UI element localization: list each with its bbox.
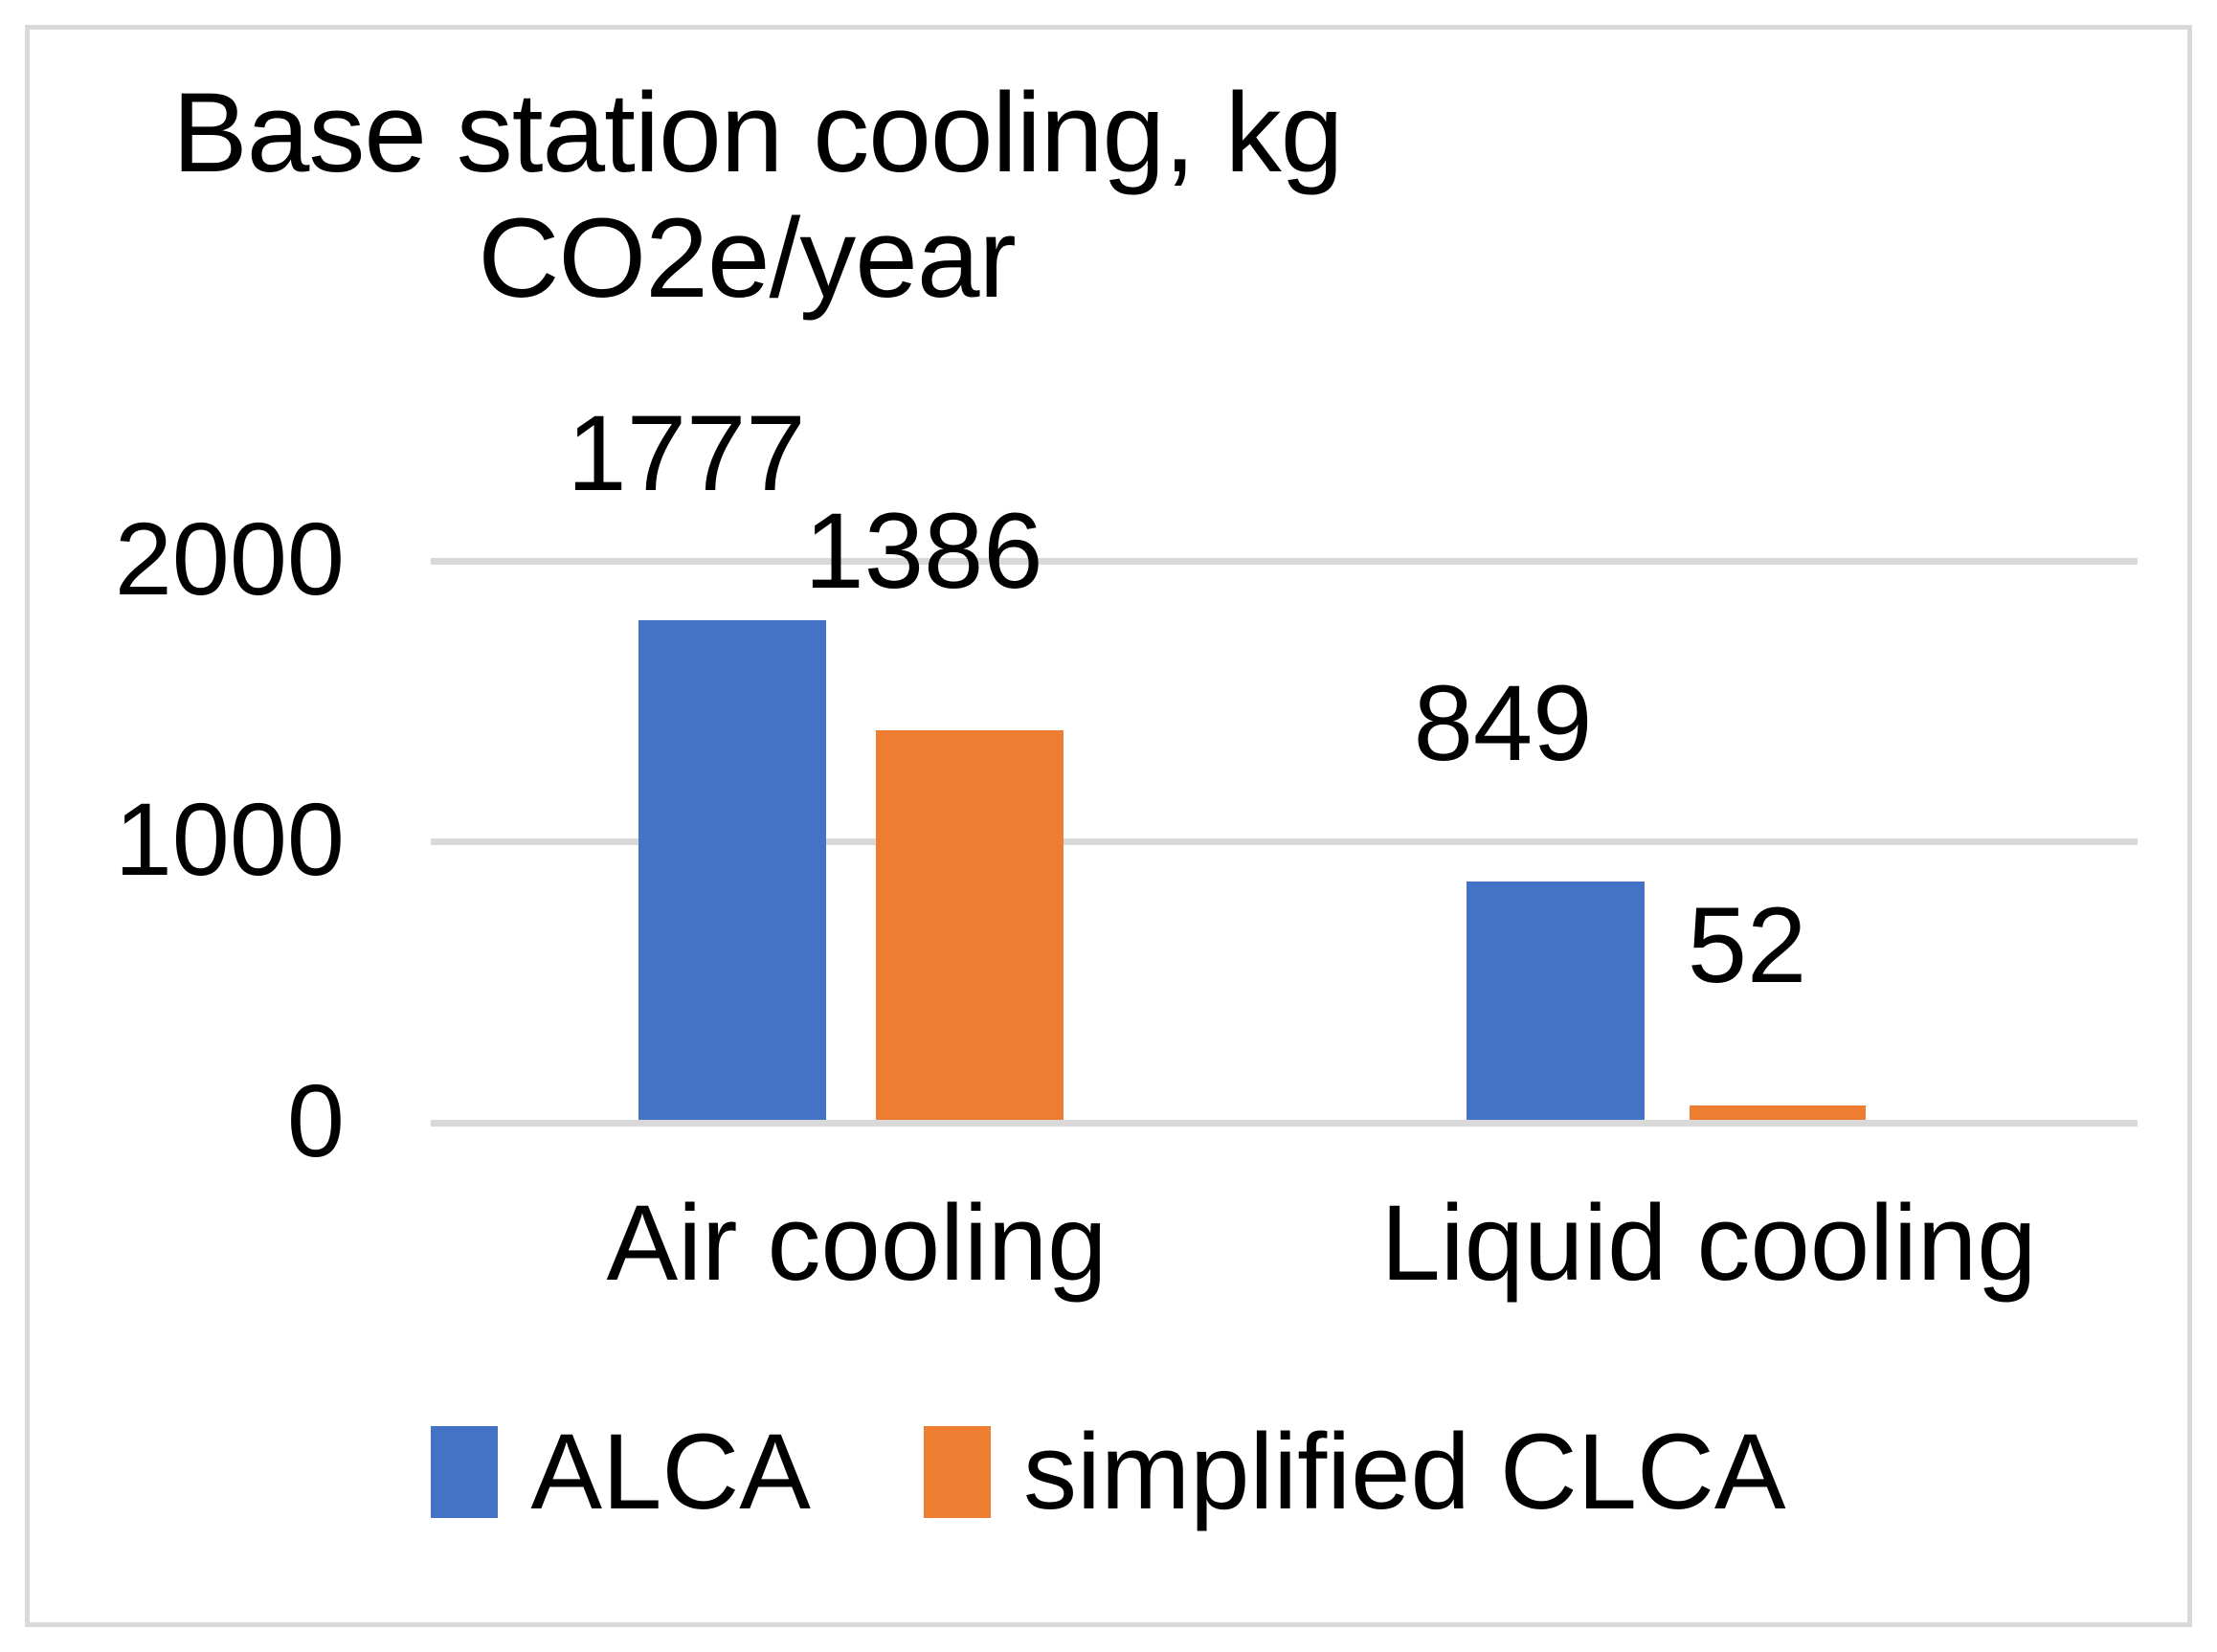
bar-liquid-cooling-alca[interactable] bbox=[1467, 882, 1645, 1120]
bar-air-cooling-alca[interactable] bbox=[638, 620, 826, 1120]
legend-swatch-icon-alca bbox=[431, 1426, 498, 1518]
gridline-2000 bbox=[431, 558, 2138, 565]
legend-item-alca[interactable]: ALCA bbox=[431, 1418, 811, 1526]
data-label-liquid-cooling-alca: 849 bbox=[1378, 670, 1627, 777]
chart-container: Base station cooling, kg CO2e/year 2000 … bbox=[0, 0, 2217, 1652]
chart-title: Base station cooling, kg CO2e/year bbox=[172, 71, 1321, 322]
x-axis-category-air-cooling: Air cooling bbox=[431, 1190, 1283, 1297]
chart-legend: ALCA simplified CLCA bbox=[0, 1418, 2217, 1526]
data-label-air-cooling-simplified-clca: 1386 bbox=[785, 498, 1063, 605]
legend-item-simplified-clca[interactable]: simplified CLCA bbox=[924, 1418, 1786, 1526]
y-axis-tick-0: 0 bbox=[29, 1069, 345, 1172]
y-axis-tick-2000: 2000 bbox=[29, 507, 345, 611]
data-label-liquid-cooling-simplified-clca: 52 bbox=[1627, 892, 1867, 999]
plot-area bbox=[431, 558, 2138, 1120]
chart-title-line-1: Base station cooling, kg bbox=[172, 71, 1321, 196]
legend-label-alca: ALCA bbox=[530, 1418, 811, 1526]
y-axis-tick-1000: 1000 bbox=[29, 788, 345, 891]
chart-title-line-2: CO2e/year bbox=[172, 196, 1321, 322]
gridline-0 bbox=[431, 1120, 2138, 1127]
legend-label-simplified-clca: simplified CLCA bbox=[1023, 1418, 1786, 1526]
x-axis-category-liquid-cooling: Liquid cooling bbox=[1283, 1190, 2135, 1297]
bar-liquid-cooling-simplified-clca[interactable] bbox=[1690, 1105, 1866, 1120]
legend-swatch-icon-simplified-clca bbox=[924, 1426, 991, 1518]
bar-air-cooling-simplified-clca[interactable] bbox=[876, 730, 1064, 1120]
data-label-air-cooling-alca: 1777 bbox=[548, 400, 825, 507]
